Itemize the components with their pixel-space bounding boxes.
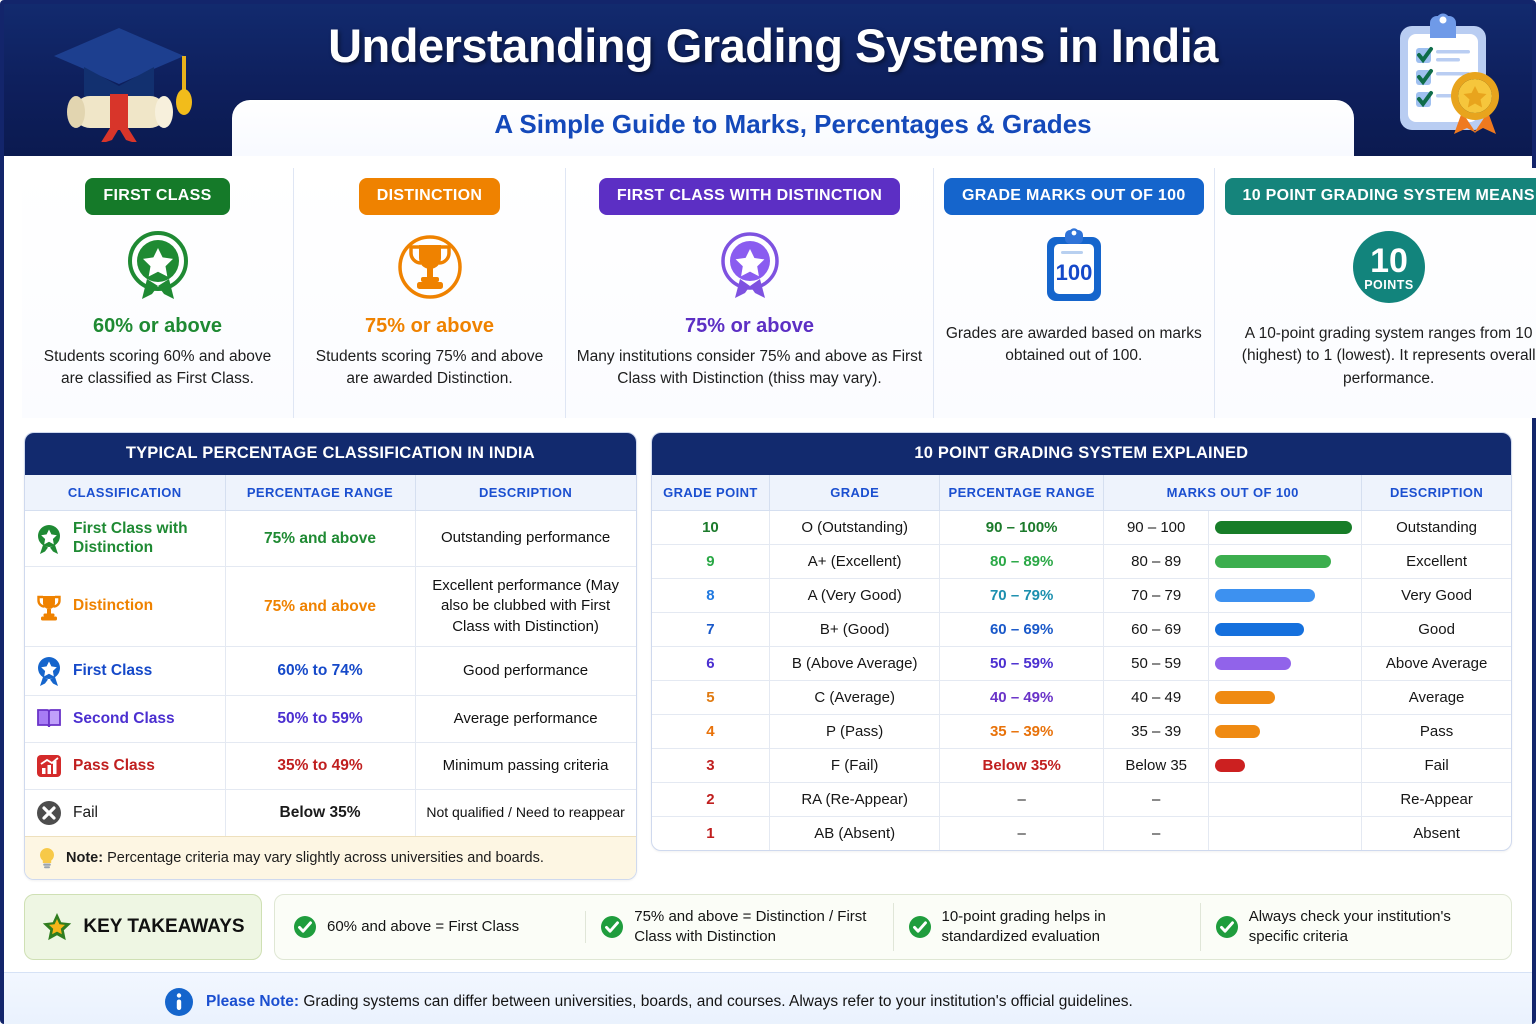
table-row: Fail Below 35% Not qualified / Need to r…	[25, 789, 636, 836]
cell-marks: 60 – 69	[1104, 613, 1209, 646]
cell-percentage: 60 – 69%	[940, 613, 1104, 647]
th-percentage-range: PERCENTAGE RANGE	[225, 475, 415, 511]
note-label: Note:	[66, 850, 103, 866]
takeaway-text: 10-point grading helps in standardized e…	[942, 907, 1186, 948]
svg-text:100: 100	[1055, 260, 1092, 285]
cell-description: Good	[1362, 613, 1511, 647]
table-header-row: GRADE POINT GRADE PERCENTAGE RANGE MARKS…	[652, 475, 1511, 511]
card-pill-first-class: FIRST CLASS	[85, 178, 229, 215]
check-circle-icon	[1215, 915, 1239, 939]
th-marks-out-of-100: MARKS OUT OF 100	[1104, 475, 1362, 511]
award-ribbon-star-icon	[35, 524, 63, 554]
cell-grade-point: 2	[652, 783, 770, 817]
check-circle-icon	[908, 915, 932, 939]
left-table-note: Note: Percentage criteria may vary sligh…	[25, 836, 636, 879]
marks-bar	[1215, 555, 1331, 568]
cell-grade-point: 3	[652, 749, 770, 783]
takeaway-item: Always check your institution's specific…	[1201, 903, 1507, 952]
takeaway-item: 10-point grading helps in standardized e…	[894, 903, 1201, 952]
card-distinction: DISTINCTION 75% or above Students scorin…	[294, 168, 566, 418]
graduation-cap-diploma-icon	[34, 10, 204, 142]
cell-description: Very Good	[1362, 579, 1511, 613]
takeaway-text: 75% and above = Distinction / First Clas…	[634, 907, 878, 948]
marks-bar	[1215, 589, 1315, 602]
cell-percentage: –	[940, 783, 1104, 817]
cell-percentage: 90 – 100%	[940, 511, 1104, 545]
table-row: 8 A (Very Good) 70 – 79% 70 – 79 Very Go…	[652, 579, 1511, 613]
tables-row: TYPICAL PERCENTAGE CLASSIFICATION IN IND…	[24, 432, 1512, 880]
card-pill-fcwd: FIRST CLASS WITH DISTINCTION	[599, 178, 900, 215]
table-row: 2 RA (Re-Appear) – – Re-Appear	[652, 783, 1511, 817]
row-classification-label: Distinction	[73, 597, 153, 616]
ten-point-grading-panel: 10 POINT GRADING SYSTEM EXPLAINED GRADE …	[651, 432, 1512, 851]
cell-grade: B+ (Good)	[770, 613, 940, 647]
card-desc-grade-marks: Grades are awarded based on marks obtain…	[944, 323, 1204, 368]
cell-marks: 90 – 100	[1104, 511, 1209, 544]
table-row: 9 A+ (Excellent) 80 – 89% 80 – 89 Excell…	[652, 545, 1511, 579]
cell-description: Re-Appear	[1362, 783, 1511, 817]
cell-description: Above Average	[1362, 647, 1511, 681]
svg-text:10: 10	[1370, 242, 1408, 280]
cell-description: Excellent	[1362, 545, 1511, 579]
check-circle-icon	[600, 915, 624, 939]
row-classification-label: First Class	[73, 662, 152, 681]
marks-bar	[1215, 759, 1245, 772]
badge-star-icon	[35, 656, 63, 686]
cell-marks: Below 35	[1104, 749, 1209, 782]
cell-marks: 40 – 49	[1104, 681, 1209, 714]
card-desc-ten-point: A 10-point grading system ranges from 10…	[1225, 323, 1536, 390]
page-title: Understanding Grading Systems in India	[204, 18, 1342, 73]
marks-bar	[1215, 725, 1260, 738]
row-percentage-range: Below 35%	[225, 789, 415, 836]
th-classification: CLASSIFICATION	[25, 475, 225, 511]
ten-point-grading-table: GRADE POINT GRADE PERCENTAGE RANGE MARKS…	[652, 475, 1511, 850]
table-row: First Class 60% to 74% Good performance	[25, 646, 636, 695]
cell-grade-point: 8	[652, 579, 770, 613]
cell-description: Fail	[1362, 749, 1511, 783]
info-icon	[164, 987, 194, 1017]
table-row: 6 B (Above Average) 50 – 59% 50 – 59 Abo…	[652, 647, 1511, 681]
percentage-classification-table: CLASSIFICATION PERCENTAGE RANGE DESCRIPT…	[25, 475, 636, 836]
footer-label: Please Note:	[206, 993, 299, 1010]
card-first-class-with-distinction: FIRST CLASS WITH DISTINCTION 75% or abov…	[566, 168, 934, 418]
takeaway-item: 60% and above = First Class	[279, 911, 586, 943]
card-pill-grade-marks: GRADE MARKS OUT OF 100	[944, 178, 1204, 215]
bar-chart-icon	[35, 752, 63, 780]
row-description: Minimum passing criteria	[415, 742, 636, 789]
ten-points-circle-icon: 10 POINTS	[1347, 221, 1431, 313]
note-text: Percentage criteria may vary slightly ac…	[103, 850, 544, 866]
cell-description: Pass	[1362, 715, 1511, 749]
row-classification-label: Second Class	[73, 710, 175, 729]
cell-grade: C (Average)	[770, 681, 940, 715]
cell-description: Average	[1362, 681, 1511, 715]
trophy-icon	[388, 221, 472, 313]
cell-percentage: 50 – 59%	[940, 647, 1104, 681]
cell-grade: A+ (Excellent)	[770, 545, 940, 579]
card-grade-marks: GRADE MARKS OUT OF 100 100 Grades are aw…	[934, 168, 1215, 418]
marks-bar	[1215, 657, 1291, 670]
card-desc-distinction: Students scoring 75% and above are award…	[304, 346, 555, 391]
check-circle-icon	[293, 915, 317, 939]
card-pill-distinction: DISTINCTION	[359, 178, 501, 215]
clipboard-100-icon: 100	[1035, 221, 1113, 313]
table-row: First Class with Distinction 75% and abo…	[25, 511, 636, 567]
left-table-title: TYPICAL PERCENTAGE CLASSIFICATION IN IND…	[25, 433, 636, 475]
th-description: DESCRIPTION	[1362, 475, 1511, 511]
cell-grade: RA (Re-Appear)	[770, 783, 940, 817]
cell-grade: AB (Absent)	[770, 817, 940, 851]
th-description: DESCRIPTION	[415, 475, 636, 511]
card-desc-fcwd: Many institutions consider 75% and above…	[576, 346, 923, 391]
row-description: Average performance	[415, 695, 636, 742]
open-book-icon	[35, 705, 63, 733]
x-circle-icon	[35, 799, 63, 827]
cell-grade-point: 10	[652, 511, 770, 545]
table-row: 1 AB (Absent) – – Absent	[652, 817, 1511, 851]
cell-grade: A (Very Good)	[770, 579, 940, 613]
table-row: 3 F (Fail) Below 35% Below 35 Fail	[652, 749, 1511, 783]
takeaway-text: 60% and above = First Class	[327, 917, 519, 937]
page-subtitle: A Simple Guide to Marks, Percentages & G…	[232, 100, 1354, 148]
row-percentage-range: 75% and above	[225, 567, 415, 647]
cell-marks: 35 – 39	[1104, 715, 1209, 748]
table-header-row: CLASSIFICATION PERCENTAGE RANGE DESCRIPT…	[25, 475, 636, 511]
cell-grade-point: 7	[652, 613, 770, 647]
row-percentage-range: 35% to 49%	[225, 742, 415, 789]
takeaway-text: Always check your institution's specific…	[1249, 907, 1493, 948]
table-row: Second Class 50% to 59% Average performa…	[25, 695, 636, 742]
row-classification-label: Fail	[73, 804, 98, 823]
footer-note: Please Note: Grading systems can differ …	[4, 972, 1532, 1024]
table-row: Pass Class 35% to 49% Minimum passing cr…	[25, 742, 636, 789]
footer-text: Grading systems can differ between unive…	[299, 993, 1133, 1010]
card-value-fcwd: 75% or above	[685, 315, 814, 338]
cell-description: Absent	[1362, 817, 1511, 851]
th-percentage-range: PERCENTAGE RANGE	[940, 475, 1104, 511]
cell-percentage: 35 – 39%	[940, 715, 1104, 749]
cell-marks: –	[1104, 783, 1209, 816]
card-first-class: FIRST CLASS 60% or above Students scorin…	[22, 168, 294, 418]
clipboard-checklist-award-icon	[1378, 8, 1518, 148]
row-percentage-range: 60% to 74%	[225, 646, 415, 695]
cell-grade: O (Outstanding)	[770, 511, 940, 545]
cell-marks: –	[1104, 817, 1209, 850]
table-row: Distinction 75% and above Excellent perf…	[25, 567, 636, 647]
row-classification-label: Pass Class	[73, 757, 155, 776]
cell-grade: P (Pass)	[770, 715, 940, 749]
cell-grade: F (Fail)	[770, 749, 940, 783]
row-description: Outstanding performance	[415, 511, 636, 567]
marks-bar	[1215, 623, 1304, 636]
card-ten-point-system: 10 POINT GRADING SYSTEM MEANS 10 POINTS …	[1215, 168, 1536, 418]
right-table-title: 10 POINT GRADING SYSTEM EXPLAINED	[652, 433, 1511, 475]
table-row: 4 P (Pass) 35 – 39% 35 – 39 Pass	[652, 715, 1511, 749]
percentage-classification-panel: TYPICAL PERCENTAGE CLASSIFICATION IN IND…	[24, 432, 637, 880]
cell-marks: 70 – 79	[1104, 579, 1209, 612]
row-percentage-range: 50% to 59%	[225, 695, 415, 742]
cell-grade-point: 5	[652, 681, 770, 715]
star-icon	[41, 911, 73, 943]
cell-percentage: 40 – 49%	[940, 681, 1104, 715]
key-takeaways-section: KEY TAKEAWAYS 60% and above = First Clas…	[24, 894, 1512, 961]
card-desc-first-class: Students scoring 60% and above are class…	[32, 346, 283, 391]
lightbulb-icon	[37, 846, 57, 870]
summary-cards-row: FIRST CLASS 60% or above Students scorin…	[22, 168, 1514, 418]
svg-text:POINTS: POINTS	[1364, 278, 1414, 292]
row-percentage-range: 75% and above	[225, 511, 415, 567]
table-row: 5 C (Average) 40 – 49% 40 – 49 Average	[652, 681, 1511, 715]
trophy-icon	[35, 592, 63, 622]
cell-marks: 50 – 59	[1104, 647, 1209, 680]
cell-percentage: Below 35%	[940, 749, 1104, 783]
cell-grade-point: 1	[652, 817, 770, 851]
card-pill-ten-point: 10 POINT GRADING SYSTEM MEANS	[1225, 178, 1536, 215]
row-classification-label: First Class with Distinction	[73, 520, 217, 557]
cell-marks: 80 – 89	[1104, 545, 1209, 578]
cell-grade-point: 9	[652, 545, 770, 579]
award-ribbon-star-icon	[708, 221, 792, 313]
marks-bar	[1215, 691, 1275, 704]
cell-grade-point: 4	[652, 715, 770, 749]
header: Understanding Grading Systems in India	[4, 4, 1532, 156]
takeaway-item: 75% and above = Distinction / First Clas…	[586, 903, 893, 952]
cell-percentage: –	[940, 817, 1104, 851]
infographic-page: Understanding Grading Systems in India	[0, 0, 1536, 1024]
key-takeaways-label: KEY TAKEAWAYS	[83, 916, 244, 938]
row-description: Good performance	[415, 646, 636, 695]
table-row: 10 O (Outstanding) 90 – 100% 90 – 100 Ou…	[652, 511, 1511, 545]
card-value-distinction: 75% or above	[365, 315, 494, 338]
th-grade: GRADE	[770, 475, 940, 511]
card-value-first-class: 60% or above	[93, 315, 222, 338]
key-takeaways-list: 60% and above = First Class 75% and abov…	[274, 894, 1512, 961]
cell-description: Outstanding	[1362, 511, 1511, 545]
cell-grade: B (Above Average)	[770, 647, 940, 681]
marks-bar	[1215, 521, 1352, 534]
cell-percentage: 70 – 79%	[940, 579, 1104, 613]
th-grade-point: GRADE POINT	[652, 475, 770, 511]
key-takeaways-badge: KEY TAKEAWAYS	[24, 894, 262, 961]
cell-grade-point: 6	[652, 647, 770, 681]
cell-percentage: 80 – 89%	[940, 545, 1104, 579]
table-row: 7 B+ (Good) 60 – 69% 60 – 69 Good	[652, 613, 1511, 647]
ten-point-rows: 10 O (Outstanding) 90 – 100% 90 – 100 Ou…	[652, 511, 1511, 851]
subtitle-banner: A Simple Guide to Marks, Percentages & G…	[232, 100, 1354, 156]
row-description: Excellent performance (May also be clubb…	[415, 567, 636, 647]
row-description: Not qualified / Need to reappear	[415, 789, 636, 836]
award-ribbon-star-icon	[116, 221, 200, 313]
